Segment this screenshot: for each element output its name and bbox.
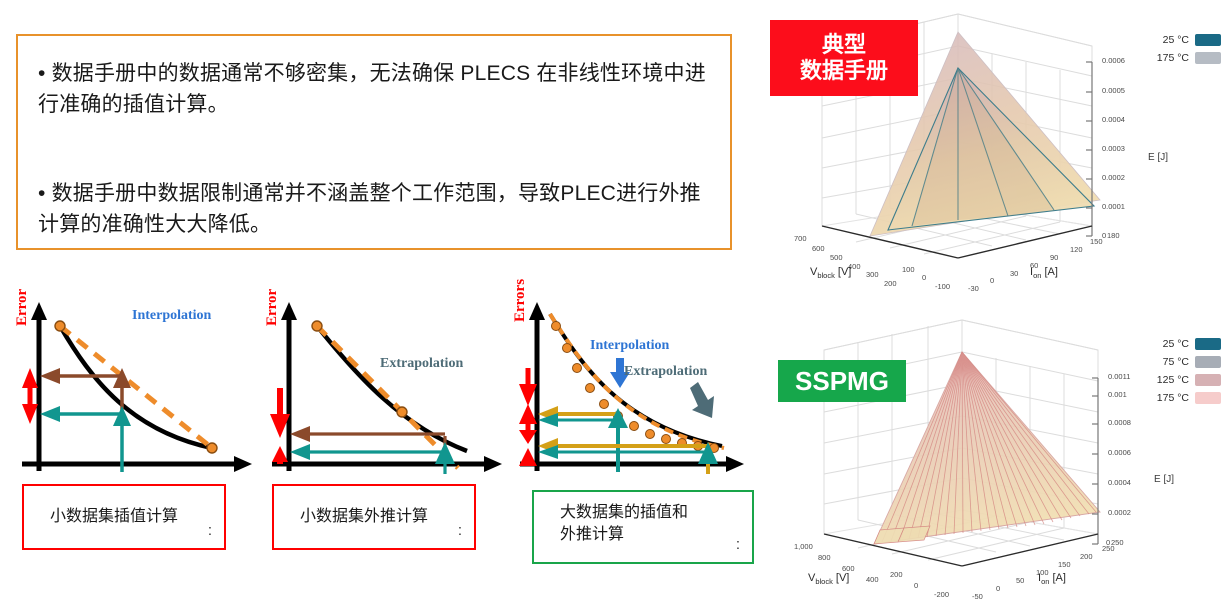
extrapolation-pointer-arrow — [690, 382, 714, 418]
caption-text: 小数据集外推计算 — [300, 506, 428, 528]
x-axis-arrowhead — [234, 456, 252, 472]
errors-indicator — [519, 368, 537, 466]
z-tick-0: 0.0011 — [1108, 372, 1130, 381]
x-tick-7: 0 — [922, 273, 926, 282]
true-curve — [317, 326, 467, 451]
z-tick-6: 0 — [1102, 231, 1106, 240]
legend-chart-typical-datasheet: 25 °C 175 °C — [1157, 34, 1221, 64]
z-axis — [1092, 378, 1098, 544]
x-tick-6: -200 — [934, 590, 949, 599]
legend-label-0: 25 °C — [1163, 338, 1189, 350]
legend-item-0[interactable]: 25 °C — [1163, 338, 1221, 350]
extrapolation-label: Extrapolation — [624, 364, 707, 380]
data-point-end — [207, 443, 217, 453]
legend-label-3: 175 °C — [1157, 392, 1189, 404]
callout-paragraph-1: • 数据手册中的数据通常不够密集，无法确保 PLECS 在非线性环境中进行准确的… — [38, 58, 714, 120]
x-axis-title-unit: [V] — [835, 266, 852, 278]
z-tick-1: 0.001 — [1108, 390, 1127, 399]
y-tick-5: 200 — [1080, 552, 1093, 561]
x-tick-2: 500 — [830, 253, 843, 262]
x-axis-title-unit: [V] — [833, 572, 850, 584]
z-tick-2: 0.0004 — [1102, 115, 1125, 124]
caption-text: 小数据集插值计算 — [50, 506, 178, 528]
extrapolation-label: Extrapolation — [380, 356, 463, 372]
legend-label-0: 25 °C — [1163, 34, 1189, 46]
badge-label: SSPMG — [795, 366, 889, 397]
x-axis-title: Vblock [V] — [810, 266, 851, 280]
legend-swatch-0 — [1195, 34, 1221, 46]
x-axis-arrowhead — [484, 456, 502, 472]
true-value-arrows — [290, 442, 455, 474]
z-tick-4: 0.0004 — [1108, 478, 1131, 487]
z-tick-5: 0.0002 — [1108, 508, 1131, 517]
legend-swatch-0 — [1195, 338, 1221, 350]
caption-small-dataset-extrapolation: 小数据集外推计算 : — [272, 484, 476, 550]
caption-small-dataset-interpolation: 小数据集插值计算 : — [22, 484, 226, 550]
errors-label: Errors — [512, 279, 529, 322]
y-axis-title-unit: [A] — [1049, 572, 1066, 584]
legend-swatch-1 — [1195, 52, 1221, 64]
legend-item-3[interactable]: 175 °C — [1157, 392, 1221, 404]
data-point-mid — [397, 407, 407, 417]
callout-paragraph-2: • 数据手册中数据限制通常并不涵盖整个工作范围，导致PLEC进行外推计算的准确性… — [38, 178, 714, 240]
badge-line-1: 典型 — [822, 32, 866, 58]
caption-large-dataset: 大数据集的插值和 外推计算 : — [532, 490, 754, 564]
z-tick-5: 0.0001 — [1102, 202, 1125, 211]
x-tick-5: 0 — [914, 581, 918, 590]
chart-typical-datasheet: 典型 数据手册 0.0006 0.0005 0.0004 0.0003 0.00… — [762, 4, 1223, 300]
interpolation-label: Interpolation — [590, 338, 669, 354]
z-tick-3: 0.0003 — [1102, 144, 1125, 153]
y-tick-0: -50 — [972, 592, 983, 601]
x-tick-4: 200 — [890, 570, 903, 579]
z-tick-0: 0.0006 — [1102, 56, 1125, 65]
y-axis-arrowhead — [529, 302, 545, 320]
interpolation-label: Interpolation — [132, 308, 211, 324]
surface-plot-2-svg — [762, 306, 1223, 602]
extrapolation-dashed-line — [317, 326, 458, 468]
x-tick-8: -100 — [935, 282, 950, 291]
badge-typical-datasheet: 典型 数据手册 — [770, 20, 918, 96]
z-axis-corner-tick: 180 — [1107, 231, 1120, 240]
badge-line-2: 数据手册 — [800, 58, 888, 84]
legend-chart-sspmg: 25 °C 75 °C 125 °C 175 °C — [1157, 338, 1221, 404]
chart-sspmg: SSPMG 0.0011 0.001 0.0008 0.0006 0.0004 … — [762, 306, 1223, 602]
legend-item-0[interactable]: 25 °C — [1163, 34, 1221, 46]
diagram-large-dataset: Errors Interpolation Extrapolation — [512, 296, 774, 476]
caption-text: 大数据集的插值和 外推计算 — [560, 502, 688, 546]
legend-label-1: 75 °C — [1163, 356, 1189, 368]
data-point-start — [55, 321, 65, 331]
z-tick-3: 0.0006 — [1108, 448, 1131, 457]
error-label: Error — [14, 289, 31, 326]
x-axis-arrowhead — [726, 456, 744, 472]
legend-swatch-1 — [1195, 356, 1221, 368]
x-tick-0: 700 — [794, 234, 807, 243]
y-tick-4: 90 — [1050, 253, 1058, 262]
badge-sspmg: SSPMG — [778, 360, 906, 402]
error-indicator — [22, 368, 38, 424]
y-tick-2: 50 — [1016, 576, 1024, 585]
x-axis-title: Vblock [V] — [808, 572, 849, 586]
y-tick-1: 0 — [996, 584, 1000, 593]
legend-item-1[interactable]: 75 °C — [1163, 356, 1221, 368]
diagram-3-svg — [512, 296, 774, 476]
data-point-start — [312, 321, 322, 331]
extrapolation-error-arrows — [538, 438, 718, 474]
y-axis-arrowhead — [31, 302, 47, 320]
y-tick-5: 120 — [1070, 245, 1083, 254]
y-tick-0: -30 — [968, 284, 979, 293]
y-tick-2: 30 — [1010, 269, 1018, 278]
y-axis-title: Ion [A] — [1030, 266, 1058, 280]
caption-trailing-colon: : — [458, 520, 462, 542]
x-tick-6: 100 — [902, 265, 915, 274]
x-tick-4: 300 — [866, 270, 879, 279]
legend-item-1[interactable]: 175 °C — [1157, 52, 1221, 64]
z-tick-1: 0.0005 — [1102, 86, 1125, 95]
y-axis-title: Ion [A] — [1038, 572, 1066, 586]
x-axis-title-sub: block — [817, 271, 835, 280]
y-axis-arrowhead — [281, 302, 297, 320]
x-tick-3: 400 — [866, 575, 879, 584]
diagram-small-dataset-extrapolation: Error Extrapolation — [262, 296, 510, 476]
legend-swatch-3 — [1195, 392, 1221, 404]
caption-trailing-colon: : — [736, 534, 740, 556]
z-axis-title: E [J] — [1148, 152, 1168, 163]
x-tick-0: 1,000 — [794, 542, 813, 551]
diagram-2-svg — [262, 296, 510, 476]
diagram-small-dataset-interpolation: Error Interpolation — [12, 296, 260, 476]
y-tick-1: 0 — [990, 276, 994, 285]
z-axis-title: E [J] — [1154, 474, 1174, 485]
z-tick-2: 0.0008 — [1108, 418, 1131, 427]
legend-label-2: 125 °C — [1157, 374, 1189, 386]
z-axis — [1086, 62, 1092, 236]
legend-swatch-2 — [1195, 374, 1221, 386]
x-tick-1: 800 — [818, 553, 831, 562]
y-tick-4: 150 — [1058, 560, 1071, 569]
x-tick-1: 600 — [812, 244, 825, 253]
interpolation-dashed-line — [60, 326, 212, 448]
legend-item-2[interactable]: 125 °C — [1157, 374, 1221, 386]
caption-trailing-colon: : — [208, 520, 212, 542]
x-axis-title-sub: block — [815, 577, 833, 586]
error-label: Error — [264, 289, 281, 326]
x-tick-5: 200 — [884, 279, 897, 288]
callout-box: • 数据手册中的数据通常不够密集，无法确保 PLECS 在非线性环境中进行准确的… — [16, 34, 732, 250]
y-tick-6: 150 — [1090, 237, 1103, 246]
y-axis-title-unit: [A] — [1041, 266, 1058, 278]
y-tick-6: 250 — [1102, 544, 1115, 553]
legend-label-1: 175 °C — [1157, 52, 1189, 64]
z-tick-4: 0.0002 — [1102, 173, 1125, 182]
